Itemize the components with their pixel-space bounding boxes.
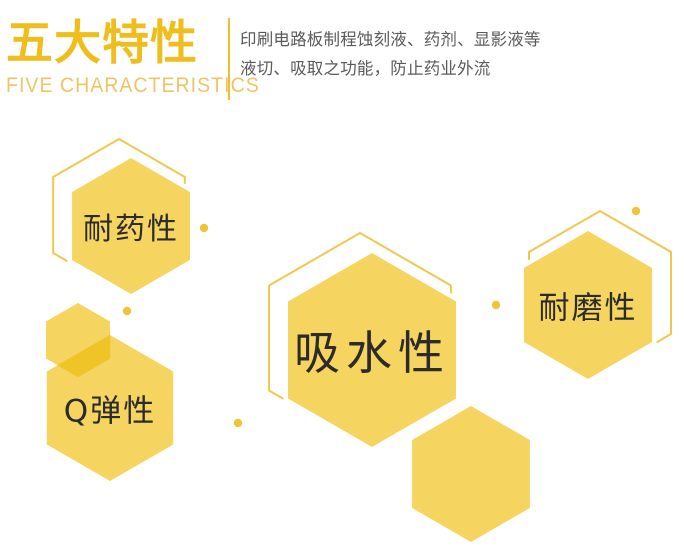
hex-wear-resistance-label: 耐磨性 — [539, 283, 638, 328]
hex-drug-resistance-label: 耐药性 — [83, 204, 179, 248]
hex-wear-resistance-node-1-dot-icon — [632, 207, 640, 215]
hex-drug-resistance-node-1-dot-icon — [200, 224, 208, 232]
hexagon-graphics — [0, 0, 684, 552]
hexagon-diagram: 耐药性Q弹性吸水性耐磨性 — [0, 0, 684, 552]
infographic-canvas: 五大特性 FIVE CHARACTERISTICS 印刷电路板制程蚀刻液、药剂、… — [0, 0, 684, 552]
hex-q-elasticity-label: Q弹性 — [64, 386, 156, 431]
hex-water-absorption-label: 吸水性 — [294, 317, 450, 383]
hex-wear-resistance-node-2-dot-icon — [492, 301, 500, 309]
hex-water-absorption-node-1-dot-icon — [234, 419, 242, 427]
hex-drug-resistance-node-2-dot-icon — [123, 307, 131, 315]
